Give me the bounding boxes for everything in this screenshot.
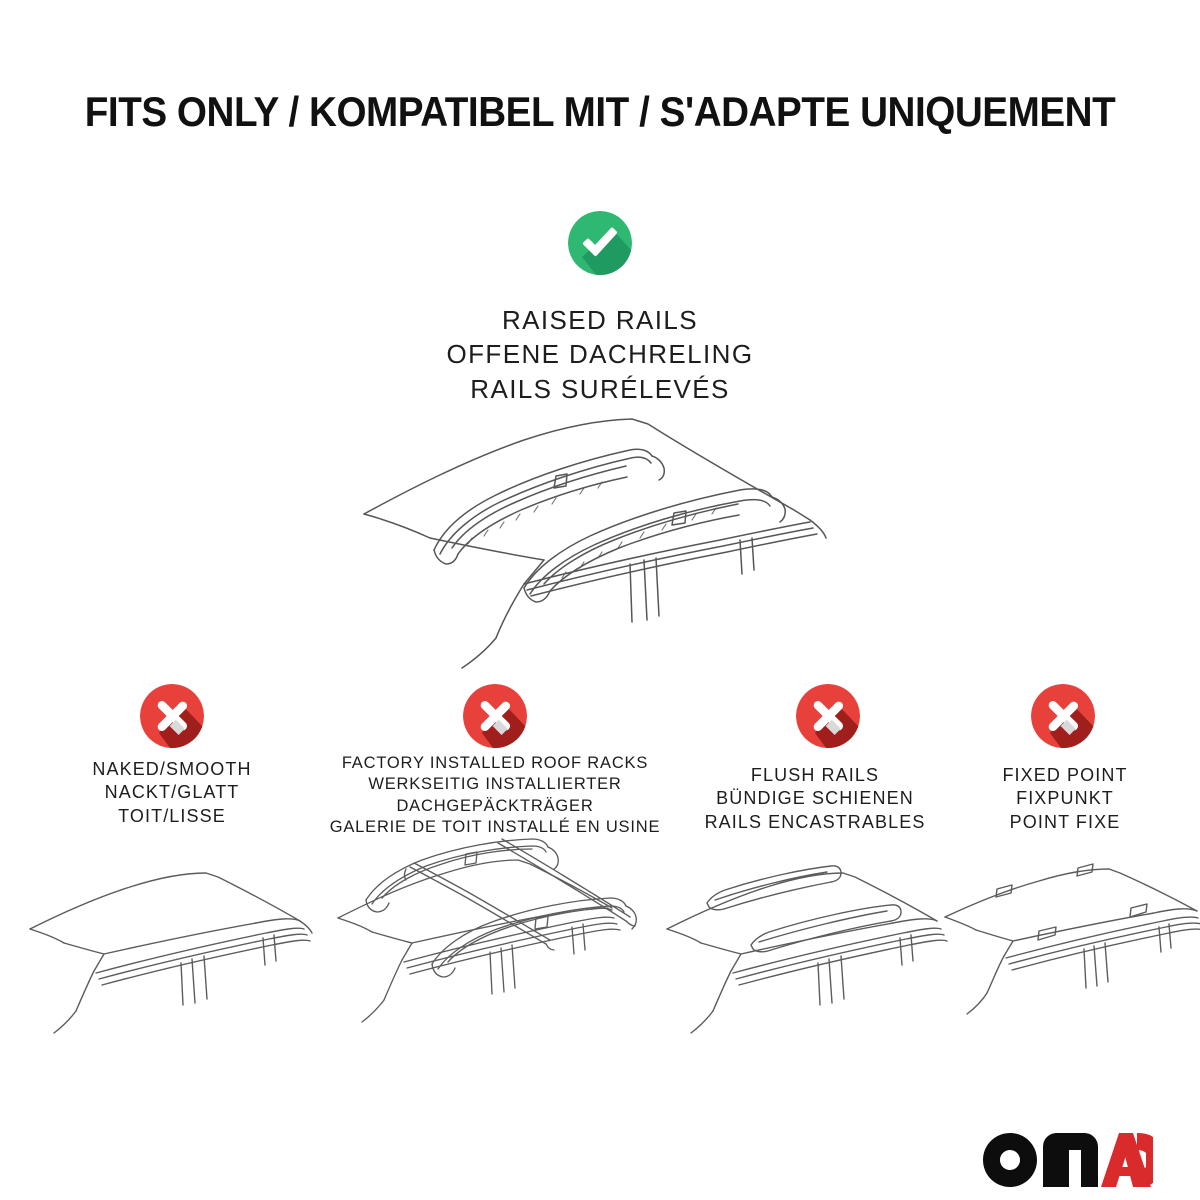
omac-logo: [983, 1133, 1153, 1189]
car-roof-naked-illustration: [18, 855, 318, 1050]
flush-rails-label-de: BÜNDIGE SCHIENEN: [680, 787, 950, 810]
check-circle-icon: [568, 211, 632, 275]
cross-circle-icon: [1031, 684, 1095, 748]
flush-rails-label-en: FLUSH RAILS: [680, 764, 950, 787]
car-roof-fixed-point-illustration: [935, 855, 1200, 1050]
factory-racks-label-de-2: DACHGEPÄCKTRÄGER: [300, 796, 690, 817]
compatible-label-en: RAISED RAILS: [0, 303, 1200, 337]
compatible-caption: RAISED RAILS OFFENE DACHRELING RAILS SUR…: [0, 303, 1200, 406]
factory-racks-caption: FACTORY INSTALLED ROOF RACKS WERKSEITIG …: [300, 753, 690, 839]
fixed-point-label-en: FIXED POINT: [950, 764, 1180, 787]
naked-smooth-label-en: NAKED/SMOOTH: [22, 758, 322, 781]
naked-smooth-label-fr: TOIT/LISSE: [22, 805, 322, 828]
car-roof-flush-rails-illustration: [655, 855, 955, 1050]
factory-racks-label-en: FACTORY INSTALLED ROOF RACKS: [300, 753, 690, 774]
cross-circle-icon: [796, 684, 860, 748]
page-title: FITS ONLY / KOMPATIBEL MIT / S'ADAPTE UN…: [48, 88, 1152, 136]
flush-rails-caption: FLUSH RAILS BÜNDIGE SCHIENEN RAILS ENCAS…: [680, 764, 950, 834]
cross-circle-icon: [463, 684, 527, 748]
car-roof-raised-rails-illustration: [348, 398, 858, 678]
naked-smooth-label-de: NACKT/GLATT: [22, 781, 322, 804]
cross-circle-icon: [140, 684, 204, 748]
factory-racks-label-de-1: WERKSEITIG INSTALLIERTER: [300, 774, 690, 795]
flush-rails-label-fr: RAILS ENCASTRABLES: [680, 811, 950, 834]
fixed-point-caption: FIXED POINT FIXPUNKT POINT FIXE: [950, 764, 1180, 834]
compatible-label-de: OFFENE DACHRELING: [0, 337, 1200, 371]
car-roof-factory-racks-illustration: [320, 838, 650, 1050]
factory-racks-label-fr: GALERIE DE TOIT INSTALLÉ EN USINE: [300, 817, 690, 838]
fixed-point-label-fr: POINT FIXE: [950, 811, 1180, 834]
naked-smooth-caption: NAKED/SMOOTH NACKT/GLATT TOIT/LISSE: [22, 758, 322, 828]
fixed-point-label-de: FIXPUNKT: [950, 787, 1180, 810]
